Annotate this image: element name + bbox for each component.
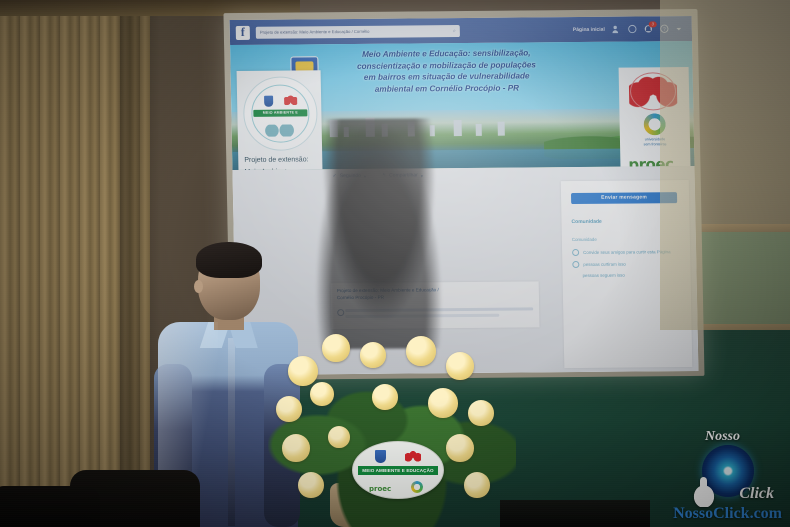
sidebar-row-follows-label: pessoas seguem isso <box>583 273 625 278</box>
avatar-people-icon <box>284 95 297 106</box>
avatar-badge: MEIO AMBIENTE E EDUCAÇÃO <box>253 109 307 116</box>
presenter-shirt-placket <box>228 338 235 526</box>
pointing-hand-icon <box>690 481 718 507</box>
sidebar-row-follows[interactable]: pessoas seguem isso <box>583 273 625 278</box>
home-link[interactable]: Página inicial <box>573 26 605 32</box>
sidebar-section-title: Comunidade <box>571 219 601 225</box>
sticker-proec-logo: proec <box>369 485 391 493</box>
flower-bouquet: MEIO AMBIENTE E EDUCAÇÃO proec <box>268 322 516 527</box>
watermark-nosso-text: Nosso <box>705 429 740 445</box>
sidebar-subtitle: Comunidade <box>572 237 597 242</box>
messenger-icon[interactable] <box>628 24 637 33</box>
cover-photo[interactable]: Meio Ambiente e Educação: sensibilização… <box>230 41 694 170</box>
cover-title-line-4: ambiental em Cornélio Procópio - PR <box>323 82 571 96</box>
sidebar-row-invite[interactable]: Convide seus amigos para curtir esta Pág… <box>572 248 671 256</box>
notifications-icon[interactable]: 3 <box>644 24 653 33</box>
chair-front-left <box>0 486 100 527</box>
sticker-people-icon <box>405 450 421 463</box>
sticker-swirl-icon <box>411 481 423 493</box>
right-wall <box>660 0 790 330</box>
photo-scene: f Projeto de extensão: Meio Ambiente e E… <box>0 0 790 527</box>
avatar[interactable]: MEIO AMBIENTE E EDUCAÇÃO <box>243 76 318 151</box>
page-title: Projeto de extensão: Meio Ambiente e Edu… <box>244 154 318 170</box>
sticker-band: MEIO AMBIENTE E EDUCAÇÃO <box>358 466 438 475</box>
search-input-value: Projeto de extensão: Meio Ambiente e Edu… <box>260 29 370 35</box>
watermark-click-text: Click <box>739 485 774 503</box>
search-input[interactable]: Projeto de extensão: Meio Ambiente e Edu… <box>256 25 460 39</box>
friend-requests-icon[interactable] <box>612 25 621 34</box>
watermark-url: NossoClick.com <box>673 505 782 523</box>
watermark: Nosso Click NossoClick.com <box>644 429 784 523</box>
project-sticker: MEIO AMBIENTE E EDUCAÇÃO proec <box>352 441 444 499</box>
notifications-badge: 3 <box>649 21 657 27</box>
presenter-shadow-on-screen <box>312 118 444 349</box>
sticker-crest-icon <box>375 450 386 463</box>
sticker-proec-label: proec <box>369 485 391 493</box>
avatar-crest-icon <box>264 96 273 107</box>
avatar-sub-logos <box>261 124 301 136</box>
sidebar-row-likes[interactable]: pessoas curtiram isso <box>572 261 626 268</box>
invite-icon <box>572 249 579 256</box>
presenter-ear <box>194 280 203 293</box>
cover-title: Meio Ambiente e Educação: sensibilização… <box>322 47 571 96</box>
like-icon <box>572 261 579 268</box>
avatar-badge-text: MEIO AMBIENTE E EDUCAÇÃO <box>253 109 307 123</box>
sidebar-row-likes-label: pessoas curtiram isso <box>583 262 626 267</box>
presenter-hair <box>196 242 262 278</box>
search-icon: ⌕ <box>453 28 456 34</box>
chair-front-right <box>500 500 650 527</box>
sidebar-row-invite-label: Convide seus amigos para curtir esta Pág… <box>583 249 670 255</box>
sticker-band-text: MEIO AMBIENTE E EDUCAÇÃO <box>358 466 438 475</box>
facebook-logo-icon[interactable]: f <box>236 25 250 39</box>
